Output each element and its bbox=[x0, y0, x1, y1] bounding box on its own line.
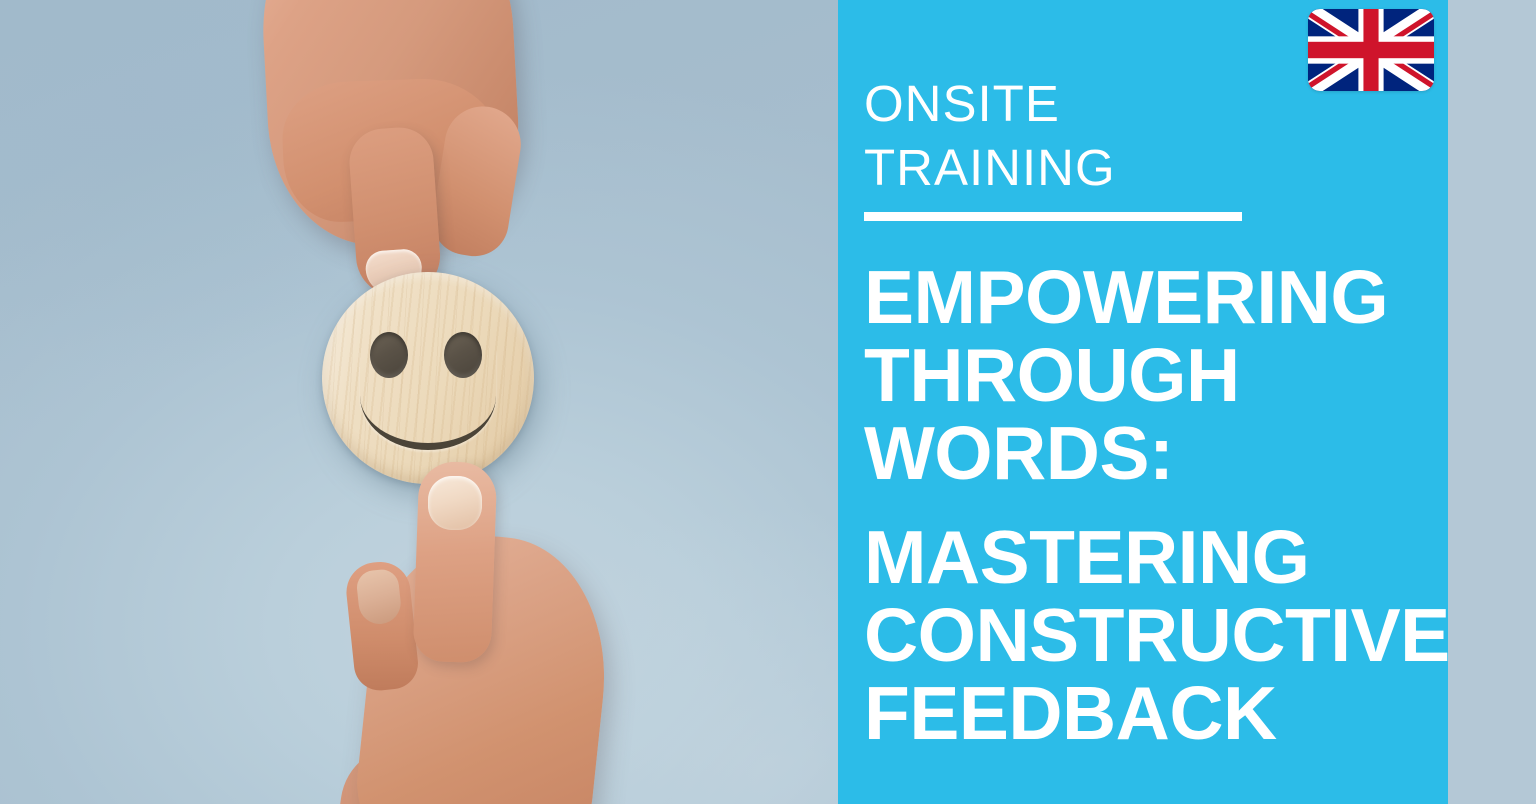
smiley-mouth-icon bbox=[360, 350, 496, 450]
page-title: EMPOWERING THROUGH WORDS: bbox=[864, 258, 1444, 492]
lower-hand-fingernail bbox=[428, 476, 482, 530]
united-kingdom-flag-icon bbox=[1308, 9, 1434, 91]
text-panel: ONSITE TRAINING EMPOWERING THROUGH WORDS… bbox=[838, 0, 1448, 804]
poster-canvas: ONSITE TRAINING EMPOWERING THROUGH WORDS… bbox=[0, 0, 1536, 804]
kicker-text: ONSITE TRAINING bbox=[864, 72, 1344, 200]
hero-photo bbox=[0, 0, 838, 804]
lower-hand bbox=[330, 452, 660, 804]
divider-rule bbox=[864, 212, 1242, 221]
page-subtitle: MASTERING CONSTRUCTIVE FEEDBACK bbox=[864, 518, 1444, 752]
upper-hand bbox=[243, 0, 543, 314]
